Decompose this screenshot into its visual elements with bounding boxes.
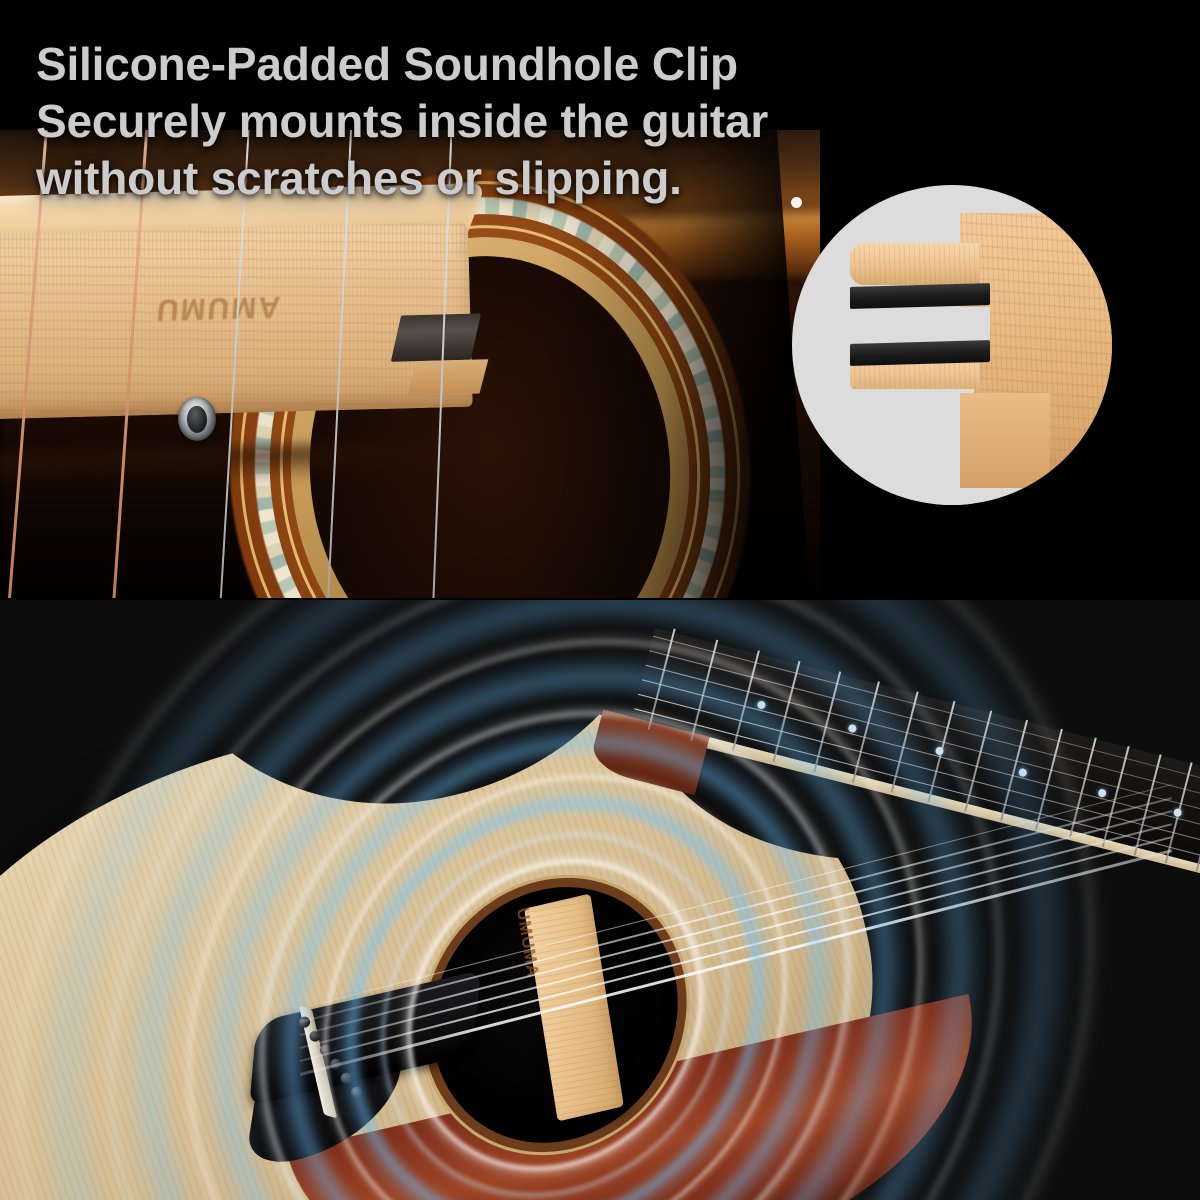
- guitar-string: [300, 836, 1172, 1062]
- top-headline-line-2: Securely mounts inside the guitar: [36, 93, 976, 150]
- inset-silicone-pad-upper: [850, 283, 990, 309]
- top-headline-line-3: without scratches or slipping.: [36, 150, 976, 207]
- guitar-string: [300, 784, 1172, 1009]
- clip-detail-inset: [792, 185, 1112, 505]
- inset-silicone-pad-lower: [850, 340, 990, 366]
- top-headline: Silicone-Padded Soundhole Clip Securely …: [36, 36, 976, 207]
- guitar-string: [300, 797, 1172, 1022]
- panel-passive-pickup: AMUMU Passive Single Coil Stable Tone Tr…: [0, 600, 1200, 1200]
- guitar-string: [300, 849, 1172, 1076]
- inset-clip-tail: [960, 393, 1050, 488]
- panel-soundhole-clip: AMUMU Silicone-Padded Soundhole Clip Sec…: [0, 0, 1200, 600]
- inset-clip-gap: [850, 307, 990, 342]
- guitar-string: [300, 823, 1172, 1049]
- inset-clip-upper-jaw: [850, 243, 980, 285]
- guitar-strings-bottom: [0, 600, 1200, 1200]
- product-infographic: AMUMU Silicone-Padded Soundhole Clip Sec…: [0, 0, 1200, 1200]
- top-headline-line-1: Silicone-Padded Soundhole Clip: [36, 36, 976, 93]
- guitar-string: [300, 810, 1172, 1036]
- inset-lower-background: [792, 389, 974, 505]
